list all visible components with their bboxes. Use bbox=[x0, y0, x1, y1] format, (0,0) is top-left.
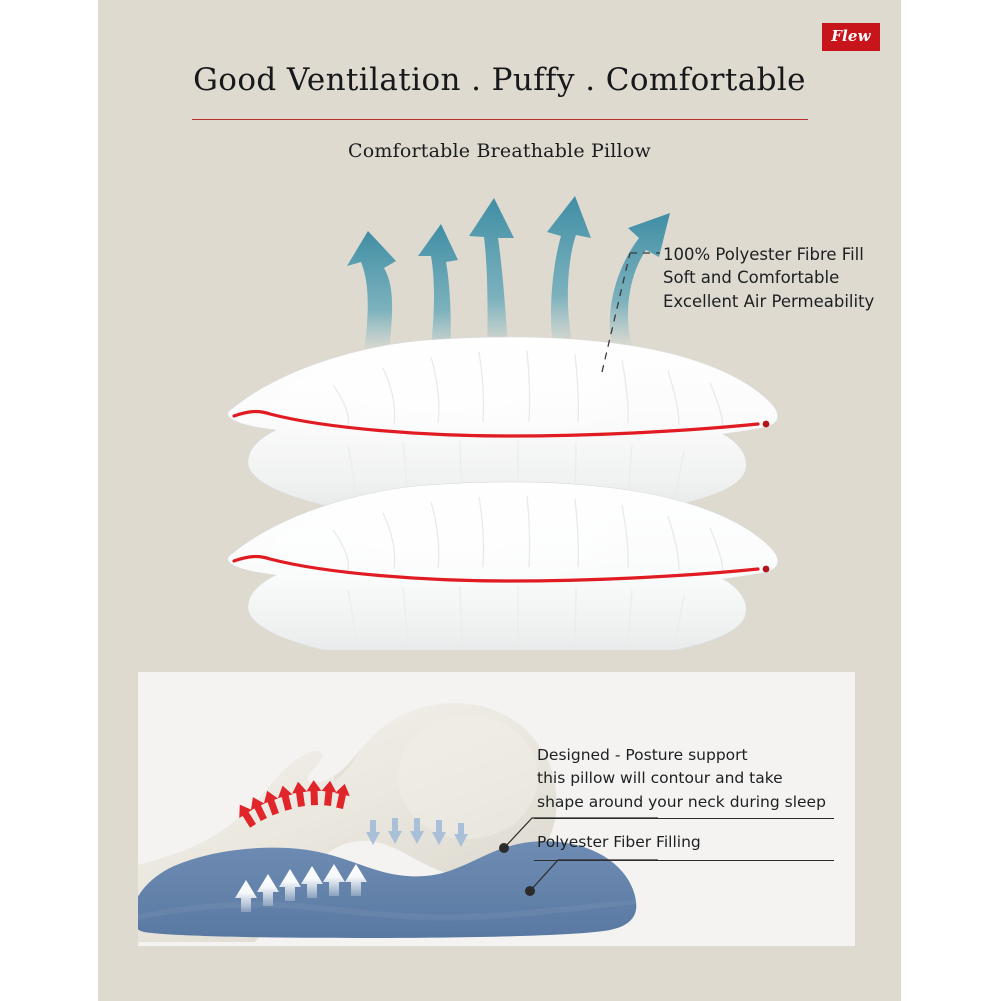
brand-logo-text: Flew bbox=[831, 29, 871, 44]
leader-dot bbox=[525, 886, 535, 896]
airflow-arrow-icon bbox=[547, 196, 591, 348]
contour-pillow-blue bbox=[138, 841, 636, 938]
callout-line: Designed - Posture support bbox=[537, 744, 826, 767]
page-title: Good Ventilation . Puffy . Comfortable bbox=[98, 62, 901, 98]
infographic-page: Flew Good Ventilation . Puffy . Comforta… bbox=[0, 0, 1001, 1001]
pillow-bottom bbox=[228, 482, 778, 650]
callout-line: this pillow will contour and take bbox=[537, 767, 826, 790]
page-subtitle: Comfortable Breathable Pillow bbox=[98, 140, 901, 162]
airflow-arrow-group bbox=[347, 196, 670, 356]
callout-fiber-filling: Polyester Fiber Filling bbox=[537, 831, 701, 854]
callout-line: 100% Polyester Fibre Fill bbox=[663, 243, 874, 266]
callout-line: Excellent Air Permeability bbox=[663, 290, 874, 313]
callout-line: shape around your neck during sleep bbox=[537, 791, 826, 814]
callout-underline-rule bbox=[534, 818, 834, 819]
leader-dot bbox=[499, 843, 509, 853]
callout-posture-support: Designed - Posture support this pillow w… bbox=[537, 744, 826, 814]
callout-line: Soft and Comfortable bbox=[663, 266, 874, 289]
callout-underline-rule bbox=[534, 860, 834, 861]
airflow-arrow-icon bbox=[469, 198, 514, 352]
title-divider-rule bbox=[192, 119, 808, 120]
airflow-arrow-icon bbox=[418, 224, 458, 356]
airflow-arrow-icon bbox=[610, 213, 670, 348]
airflow-arrow-icon bbox=[347, 231, 396, 352]
callout-fibre-fill: 100% Polyester Fibre Fill Soft and Comfo… bbox=[663, 243, 874, 313]
brand-logo-badge: Flew bbox=[822, 23, 880, 51]
